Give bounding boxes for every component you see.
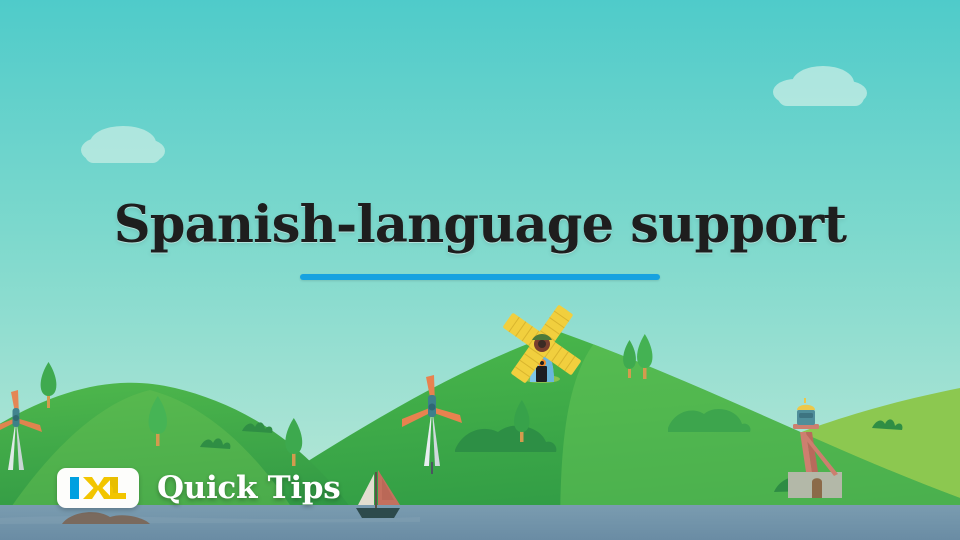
video-slide: Spanish-language support Quick Tips [0, 0, 960, 540]
page-title: Spanish-language support [0, 195, 960, 255]
brand-lockup: Quick Tips [57, 468, 340, 508]
title-block: Spanish-language support [0, 195, 960, 280]
brand-label: Quick Tips [157, 471, 340, 505]
ixl-logo-mark [69, 476, 127, 500]
ixl-logo[interactable] [57, 468, 139, 508]
title-underline-rule [300, 274, 660, 280]
